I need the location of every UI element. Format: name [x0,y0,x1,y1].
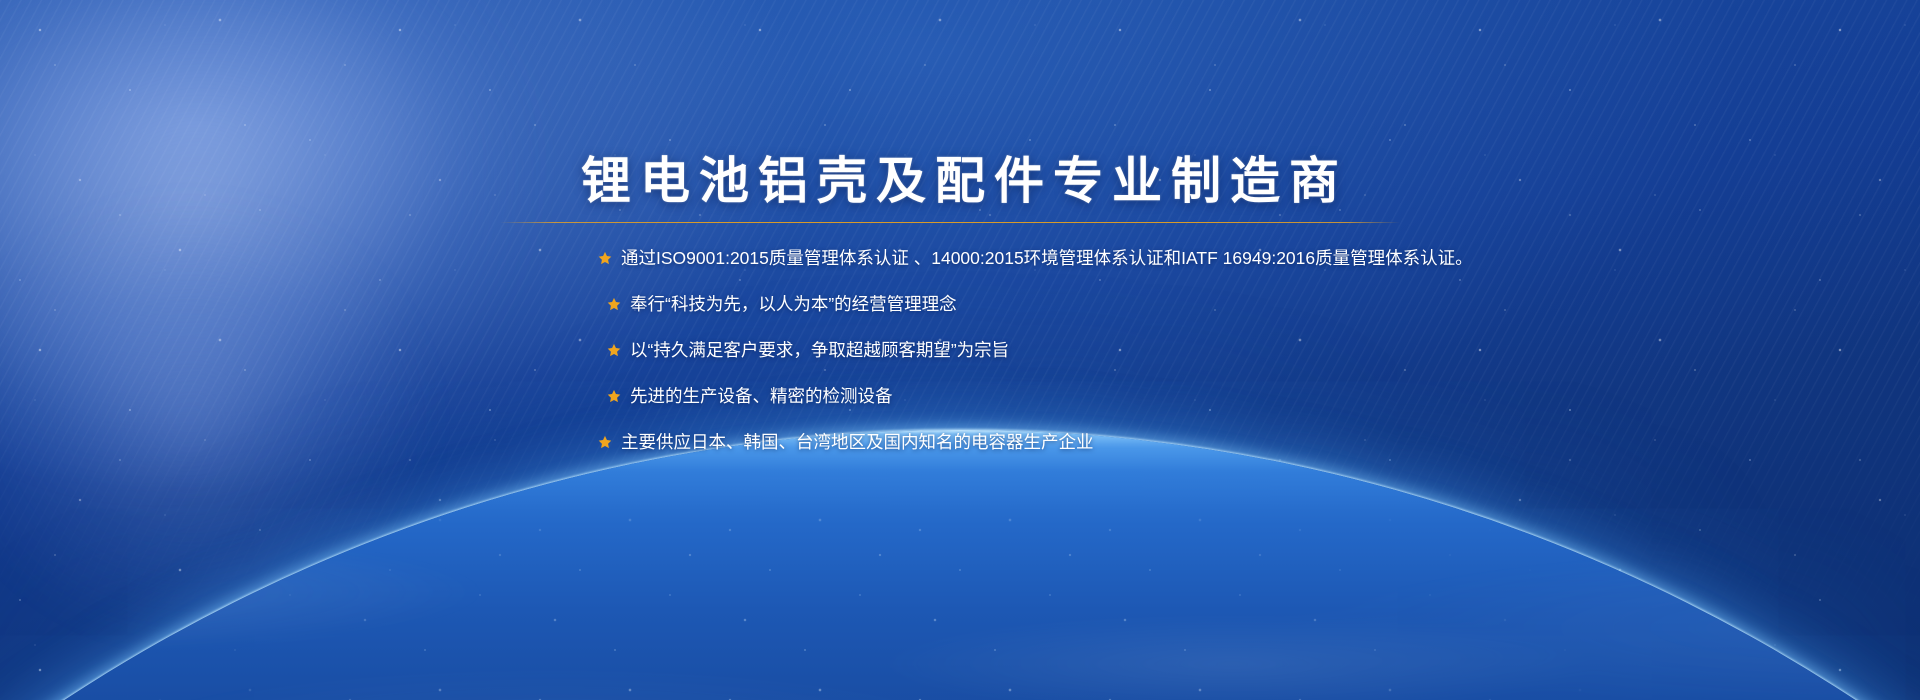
list-item-label: 主要供应日本、韩国、台湾地区及国内知名的电容器生产企业 [621,429,1094,455]
list-item-label: 通过ISO9001:2015质量管理体系认证 、14000:2015环境管理体系… [621,245,1473,271]
hero-banner: 锂电池铝壳及配件专业制造商 通过ISO9001:2015质量管理体系认证 、14… [0,0,1920,700]
star-icon [607,389,621,403]
list-item: 主要供应日本、韩国、台湾地区及国内知名的电容器生产企业 [598,429,1698,455]
list-item-label: 奉行“科技为先，以人为本”的经营管理理念 [630,291,957,317]
banner-headline: 锂电池铝壳及配件专业制造商 [0,150,1920,212]
banner-content: 锂电池铝壳及配件专业制造商 通过ISO9001:2015质量管理体系认证 、14… [0,0,1920,700]
list-item: 先进的生产设备、精密的检测设备 [607,383,1698,409]
list-item: 奉行“科技为先，以人为本”的经营管理理念 [607,291,1698,317]
list-item-label: 先进的生产设备、精密的检测设备 [630,383,893,409]
star-icon [607,343,621,357]
list-item-label: 以“持久满足客户要求，争取超越顾客期望”为宗旨 [630,337,1009,363]
star-icon [598,251,612,265]
list-item: 以“持久满足客户要求，争取超越顾客期望”为宗旨 [607,337,1698,363]
feature-list: 通过ISO9001:2015质量管理体系认证 、14000:2015环境管理体系… [598,245,1698,475]
list-item: 通过ISO9001:2015质量管理体系认证 、14000:2015环境管理体系… [598,245,1698,271]
star-icon [598,435,612,449]
star-icon [607,297,621,311]
headline-divider [500,222,1400,223]
